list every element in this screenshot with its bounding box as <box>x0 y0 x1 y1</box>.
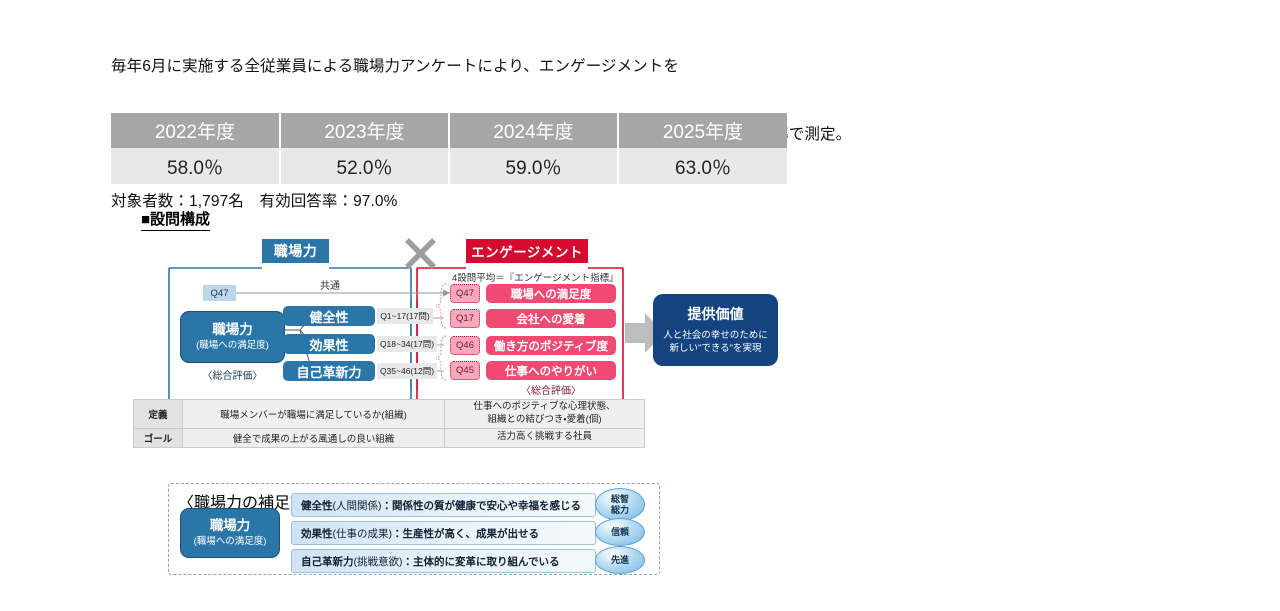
right-item-pill-1: 会社への愛着 <box>486 309 616 328</box>
supplement-band-0: 健全性(人間関係)：関係性の質が健康で安心や幸福を感じる <box>291 493 596 517</box>
supplement-band-1: 効果性(仕事の成果)：生産性が高く、成果が出せる <box>291 521 596 545</box>
value-line-1: 人と社会の幸せのために <box>663 329 768 342</box>
supplement-core-box: 職場力 (職場への満足度) <box>180 508 280 558</box>
supplement-badge-2: 先進 <box>595 546 645 574</box>
supplement-band-0-strong: 健全性 <box>301 498 333 513</box>
supplement-band-1-desc: ：生産性が高く、成果が出せる <box>392 526 539 541</box>
def-right-line-2: 組織との結びつき・愛着(個) <box>488 414 602 425</box>
definition-goal-table: 定義 職場メンバーが職場に満足しているか(組織) 仕事へのポジティブな心理状態、… <box>133 399 645 448</box>
goal-left-cell: 健全で成果の上がる風通しの良い組織 <box>183 428 445 447</box>
supplement-band-1-strong: 効果性 <box>301 526 333 541</box>
supplement-band-0-paren: (人間関係) <box>333 498 382 513</box>
supplement-band-2-strong: 自己革新力 <box>301 554 354 569</box>
left-item-range-2: Q35~46(12問) <box>377 363 437 379</box>
right-item-pill-2: 働き方のポジティブ度 <box>486 336 616 355</box>
table-row: 定義 職場メンバーが職場に満足しているか(組織) 仕事へのポジティブな心理状態、… <box>134 400 645 429</box>
diagram-header-workplace-power: 職場力 <box>262 239 329 263</box>
supplement-band-0-desc: ：関係性の質が健康で安心や幸福を感じる <box>382 498 582 513</box>
supplement-badge-2-line-1: 先進 <box>611 555 629 565</box>
left-item-pill-2: 自己革新力 <box>283 361 375 381</box>
engagement-average-note: 4設問平均＝『エンゲージメント指標』 <box>452 270 619 284</box>
right-q-chip-2: Q46 <box>450 336 480 355</box>
def-row-label: 定義 <box>134 400 183 429</box>
supplement-badge-0-line-1: 総智 <box>611 494 629 504</box>
supplement-badge-0: 総智 総力 <box>595 488 645 521</box>
left-item-range-1: Q18~34(17問) <box>377 336 437 352</box>
left-item-pill-0: 健全性 <box>283 306 375 326</box>
supplement-band-2-paren: (挑戦意欲) <box>354 554 403 569</box>
table-row: ゴール 健全で成果の上がる風通しの良い組織 活力高く挑戦する社員 <box>134 428 645 447</box>
def-right-cell: 仕事へのポジティブな心理状態、 組織との結びつき・愛着(個) <box>445 400 645 429</box>
common-label: 共通 <box>320 277 340 292</box>
left-item-range-0: Q1~17(17問) <box>377 308 433 324</box>
supplement-badge-0-line-2: 総力 <box>611 505 629 515</box>
def-right-line-1: 仕事へのポジティブな心理状態、 <box>474 401 616 412</box>
supplement-badge-1-line-1: 信頼 <box>611 527 629 537</box>
supplement-core-subtitle: (職場への満足度) <box>194 536 267 549</box>
supplement-core-title: 職場力 <box>210 517 251 535</box>
left-item-pill-1: 効果性 <box>283 334 375 354</box>
supplement-band-2: 自己革新力(挑戦意欲)：主体的に変革に取り組んでいる <box>291 549 596 573</box>
right-q-chip-3: Q45 <box>450 361 480 380</box>
goal-right-cell: 活力高く挑戦する社員 <box>445 428 645 447</box>
supplement-badge-1: 信頼 <box>595 518 645 546</box>
value-proposition-box: 提供価値 人と社会の幸せのために 新しい"できる"を実現 <box>653 294 778 366</box>
diagram-header-engagement: エンゲージメント <box>466 239 588 263</box>
right-q-chip-0: Q47 <box>450 284 480 303</box>
core-title: 職場力 <box>212 321 253 339</box>
supplement-band-1-paren: (仕事の成果) <box>333 526 393 541</box>
right-item-pill-3: 仕事へのやりがい <box>486 361 616 380</box>
right-item-pill-0: 職場への満足度 <box>486 284 616 303</box>
supplement-band-2-desc: ：主体的に変革に取り組んでいる <box>403 554 560 569</box>
value-line-2: 新しい"できる"を実現 <box>669 342 761 355</box>
left-overall-eval-label: 〈総合評価〉 <box>180 367 285 382</box>
value-title: 提供価値 <box>688 305 744 325</box>
core-subtitle: (職場への満足度) <box>196 340 269 353</box>
right-overall-eval-label: 〈総合評価〉 <box>486 382 616 397</box>
right-q-chip-1: Q17 <box>450 309 480 328</box>
goal-row-label: ゴール <box>134 428 183 447</box>
workplace-power-core-box: 職場力 (職場への満足度) <box>180 311 285 363</box>
common-question-chip: Q47 <box>203 285 236 301</box>
def-left-cell: 職場メンバーが職場に満足しているか(組織) <box>183 400 445 429</box>
